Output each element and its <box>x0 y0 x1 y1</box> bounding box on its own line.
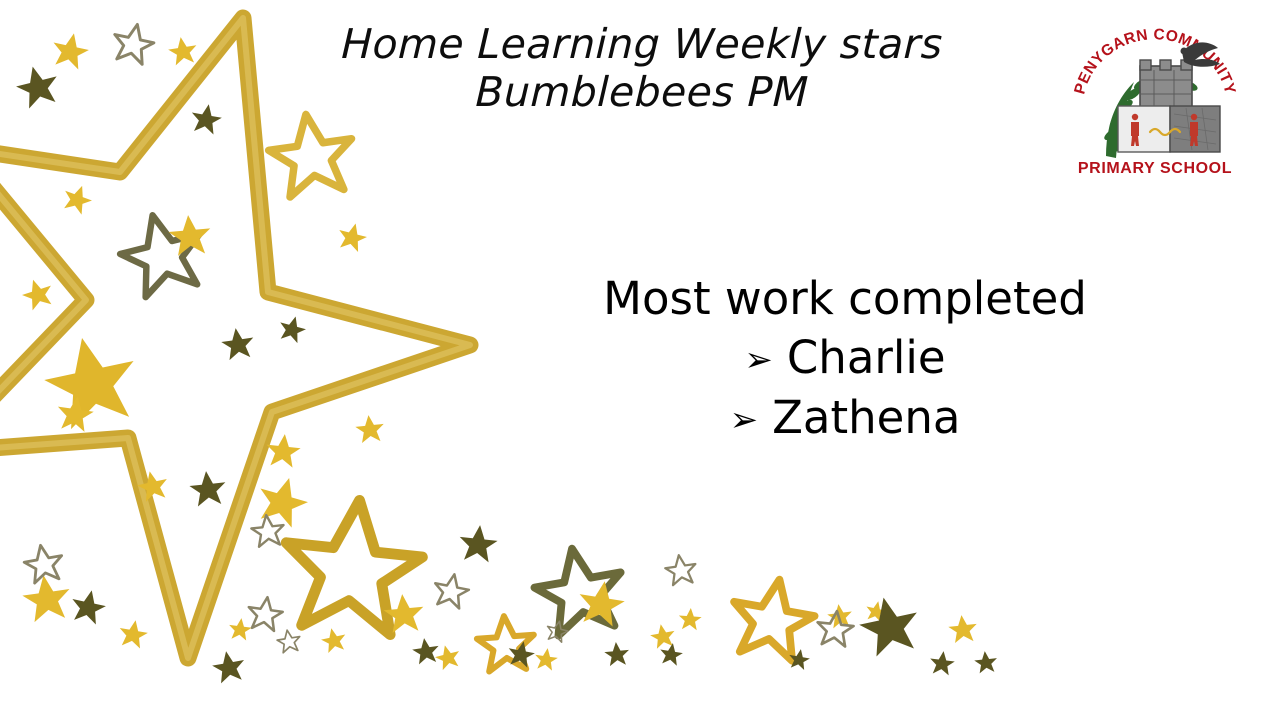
arrow-bullet-icon: ➢ <box>730 403 759 437</box>
outline-star-dark-bottom <box>529 541 630 638</box>
penygarn-community-primary-school-logo: PENYGARN COMMUNITY <box>1062 10 1248 182</box>
list-item: ➢ Zathena <box>545 391 1145 445</box>
title-line-1: Home Learning Weekly stars <box>271 22 1013 68</box>
slide-title: Home Learning Weekly stars Bumblebees PM <box>272 22 1012 116</box>
award-category-heading: Most work completed <box>545 272 1145 325</box>
body-content: Most work completed ➢ Charlie ➢ Zathena <box>545 272 1145 445</box>
slide-canvas: Home Learning Weekly stars Bumblebees PM… <box>0 0 1280 720</box>
outline-star-dark-midleft <box>113 205 211 300</box>
outline-star-gold-small-top <box>264 109 358 199</box>
arrow-bullet-icon: ➢ <box>744 343 773 377</box>
book-and-rock-icon <box>1118 106 1220 152</box>
filled-star-gold-large-left <box>37 329 144 433</box>
outline-star-gold-bottom-small <box>475 614 536 672</box>
pupil-name-charlie: Charlie <box>787 331 946 385</box>
list-item: ➢ Charlie <box>545 331 1145 385</box>
outline-star-gold-bottom-right <box>726 573 820 664</box>
logo-text-bottom: PRIMARY SCHOOL <box>1078 160 1232 177</box>
pupil-name-zathena: Zathena <box>772 391 960 445</box>
outline-star-gold-bottom-centre <box>278 493 428 637</box>
title-line-2: Bumblebees PM <box>271 70 1013 116</box>
